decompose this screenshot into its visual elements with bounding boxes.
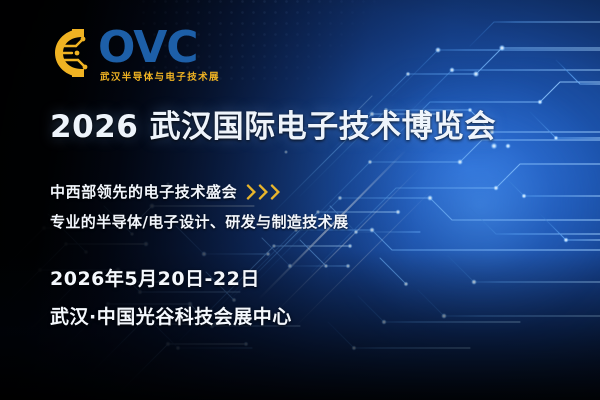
exhibition-banner: OVC 武汉半导体与电子技术展 2026 武汉国际电子技术博览会 中西部领先的电… <box>0 0 600 400</box>
ovc-circuit-mark-icon <box>52 27 96 79</box>
chevron-group <box>246 183 282 201</box>
logo: OVC 武汉半导体与电子技术展 <box>52 27 220 83</box>
tagline-secondary: 专业的半导体/电子设计、研发与制造技术展 <box>50 212 348 233</box>
logo-text-block: OVC 武汉半导体与电子技术展 <box>98 27 220 83</box>
logo-subtitle: 武汉半导体与电子技术展 <box>100 72 220 83</box>
event-venue: 武汉·中国光谷科技会展中心 <box>50 304 292 330</box>
logo-wordmark: OVC <box>98 27 220 69</box>
tagline-primary-row: 中西部领先的电子技术盛会 <box>50 182 282 202</box>
banner-content: OVC 武汉半导体与电子技术展 2026 武汉国际电子技术博览会 中西部领先的电… <box>0 0 600 400</box>
tagline-primary: 中西部领先的电子技术盛会 <box>50 182 237 202</box>
event-date: 2026年5月20日-22日 <box>50 266 260 292</box>
page-title: 2026 武汉国际电子技术博览会 <box>50 108 496 146</box>
chevron-right-icon <box>270 183 283 201</box>
